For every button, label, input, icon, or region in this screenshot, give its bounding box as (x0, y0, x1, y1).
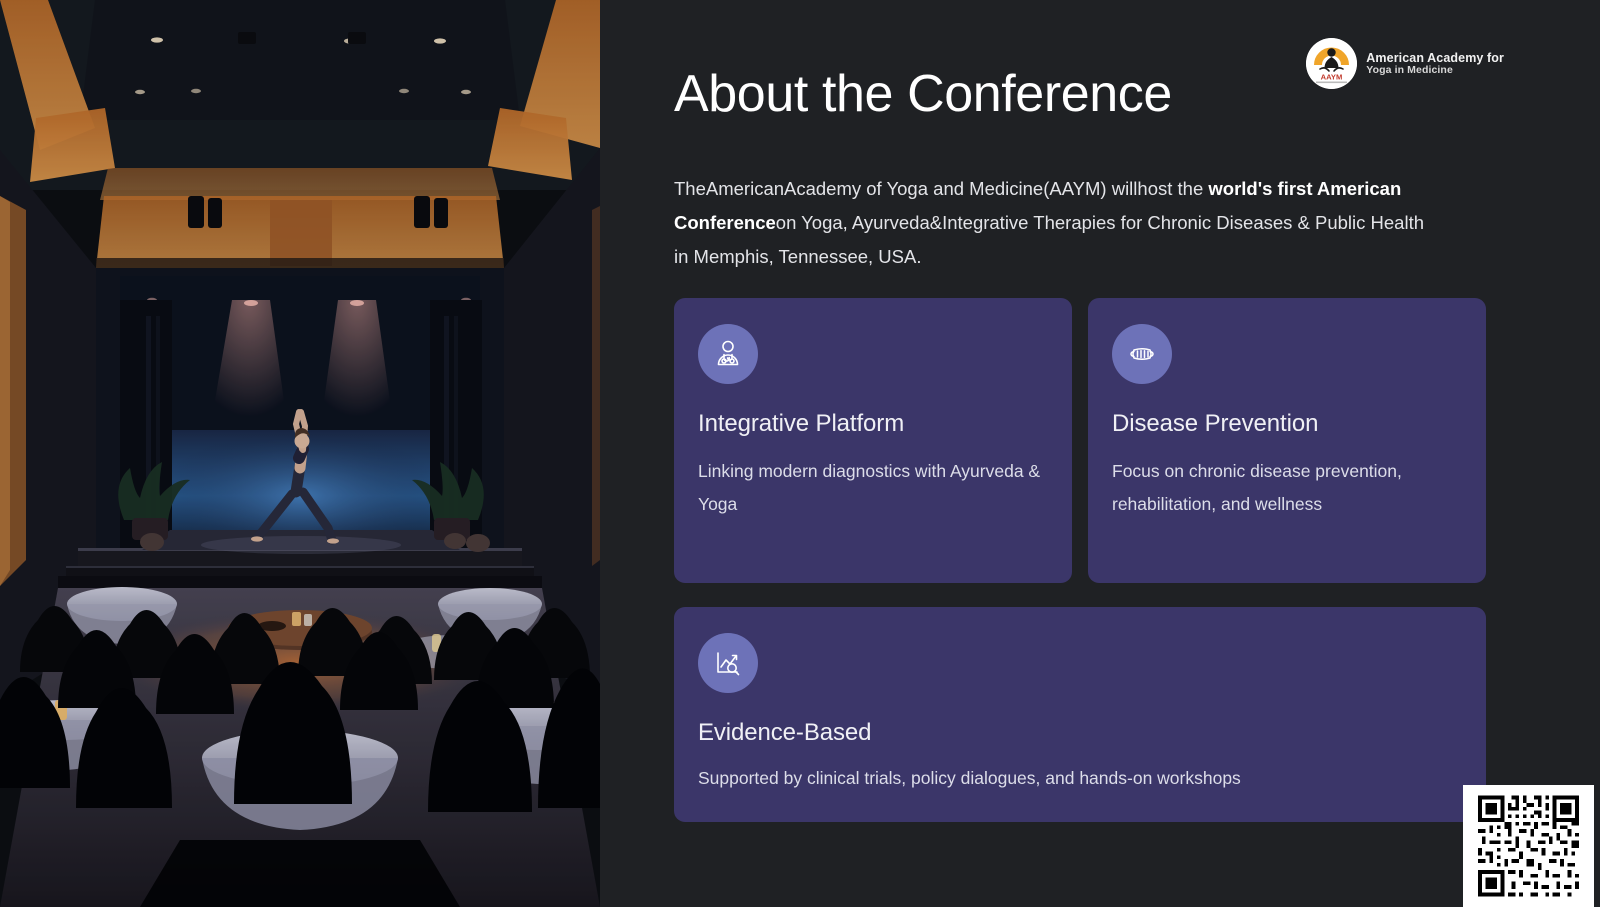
feature-cards: Integrative Platform Linking modern diag… (674, 298, 1486, 822)
feature-card-title: Integrative Platform (698, 410, 1048, 439)
aaym-logo-mark-icon: AAYM (1306, 38, 1357, 89)
content-panel: AAYM American Academy for Yoga in Medici… (600, 0, 1600, 907)
face-mask-icon (1112, 324, 1172, 384)
slide-root: AAYM American Academy for Yoga in Medici… (0, 0, 1600, 907)
feature-card-body: Supported by clinical trials, policy dia… (698, 762, 1462, 795)
feature-card-title: Disease Prevention (1112, 410, 1462, 439)
feature-cards-row-top: Integrative Platform Linking modern diag… (674, 298, 1486, 583)
aaym-logo: AAYM American Academy for Yoga in Medici… (1306, 38, 1504, 89)
intro-paragraph: TheAmericanAcademy of Yoga and Medicine(… (674, 172, 1434, 274)
logo-line-1: American Academy for (1366, 51, 1504, 65)
svg-text:AAYM: AAYM (1321, 73, 1343, 82)
conference-hall-photo (0, 0, 600, 907)
qr-code[interactable] (1463, 785, 1594, 907)
doctor-stethoscope-icon (698, 324, 758, 384)
intro-part-1: TheAmericanAcademy of Yoga and Medicine(… (674, 178, 1208, 199)
feature-card-title: Evidence-Based (698, 719, 1462, 748)
feature-card-disease-prevention[interactable]: Disease Prevention Focus on chronic dise… (1088, 298, 1486, 583)
feature-card-body: Linking modern diagnostics with Ayurveda… (698, 455, 1048, 521)
page-title: About the Conference (674, 66, 1172, 123)
feature-card-evidence-based[interactable]: Evidence-Based Supported by clinical tri… (674, 607, 1486, 822)
intro-part-2: on Yoga, Ayurveda&Integrative Therapies … (674, 212, 1424, 267)
feature-card-body: Focus on chronic disease prevention, reh… (1112, 455, 1462, 521)
logo-line-2: Yoga in Medicine (1366, 65, 1504, 77)
chart-magnifier-icon (698, 633, 758, 693)
feature-card-integrative-platform[interactable]: Integrative Platform Linking modern diag… (674, 298, 1072, 583)
